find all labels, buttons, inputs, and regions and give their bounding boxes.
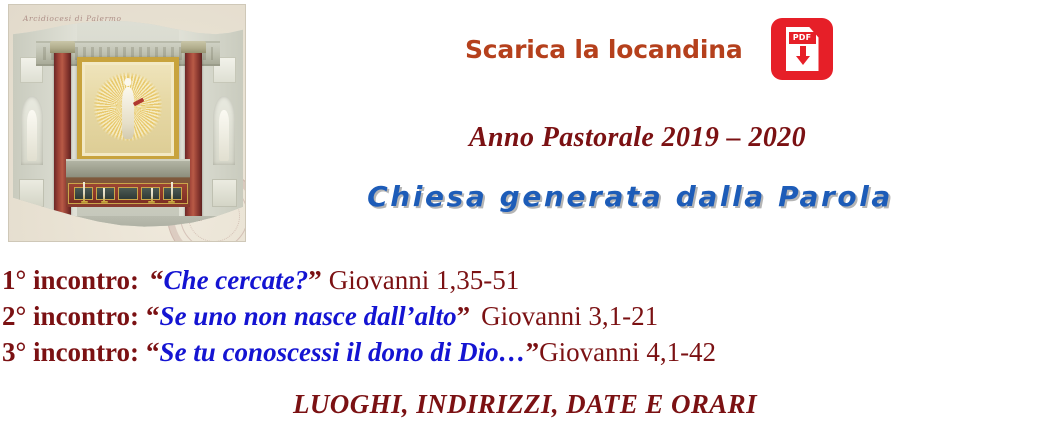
incontro-close-quote: ” bbox=[526, 337, 540, 367]
download-arrow-head bbox=[796, 56, 810, 65]
download-label: Scarica la locandina bbox=[465, 35, 743, 64]
incontro-open-quote: “ bbox=[146, 301, 160, 331]
incontro-item: 1° incontro:“Che cercate?”Giovanni 1,35-… bbox=[2, 262, 1058, 298]
incontro-quote: Se tu conoscessi il dono di Dio… bbox=[160, 337, 526, 367]
incontro-quote: Se uno non nasce dall’alto bbox=[160, 301, 457, 331]
tema-heading: Chiesa generata dalla Parola bbox=[0, 180, 1060, 213]
incontro-item: 3° incontro:“Se tu conoscessi il dono di… bbox=[2, 334, 1058, 370]
luoghi-indirizzi-heading: LUOGHI, INDIRIZZI, DATE E ORARI bbox=[0, 389, 1060, 420]
incontro-close-quote: ” bbox=[457, 301, 471, 331]
poster-page: Arcidiocesi di Palermo Scarica la locand… bbox=[0, 0, 1060, 431]
incontro-open-quote: “ bbox=[146, 337, 160, 367]
pdf-download-icon[interactable]: PDF bbox=[771, 18, 833, 80]
incontro-label: 1° incontro: bbox=[2, 265, 139, 295]
right-capital bbox=[181, 41, 205, 53]
incontro-label: 2° incontro: bbox=[2, 301, 139, 331]
incontri-list: 1° incontro:“Che cercate?”Giovanni 1,35-… bbox=[2, 262, 1058, 370]
pdf-label-text: PDF bbox=[789, 32, 816, 44]
incontro-item: 2° incontro:“Se uno non nasce dall’alto”… bbox=[2, 298, 1058, 334]
left-capital bbox=[50, 41, 74, 53]
photo-caption: Arcidiocesi di Palermo bbox=[23, 14, 122, 23]
download-row: Scarica la locandina PDF bbox=[465, 18, 833, 80]
incontro-close-quote: ” bbox=[308, 265, 322, 295]
incontro-reference: Giovanni 3,1-21 bbox=[481, 301, 658, 331]
incontro-open-quote: “ bbox=[150, 265, 164, 295]
incontro-quote: Che cercate? bbox=[164, 265, 309, 295]
incontro-reference: Giovanni 4,1-42 bbox=[539, 337, 716, 367]
incontro-label: 3° incontro: bbox=[2, 337, 139, 367]
incontro-reference: Giovanni 1,35-51 bbox=[329, 265, 519, 295]
anno-pastorale-heading: Anno Pastorale 2019 – 2020 bbox=[0, 122, 1060, 154]
